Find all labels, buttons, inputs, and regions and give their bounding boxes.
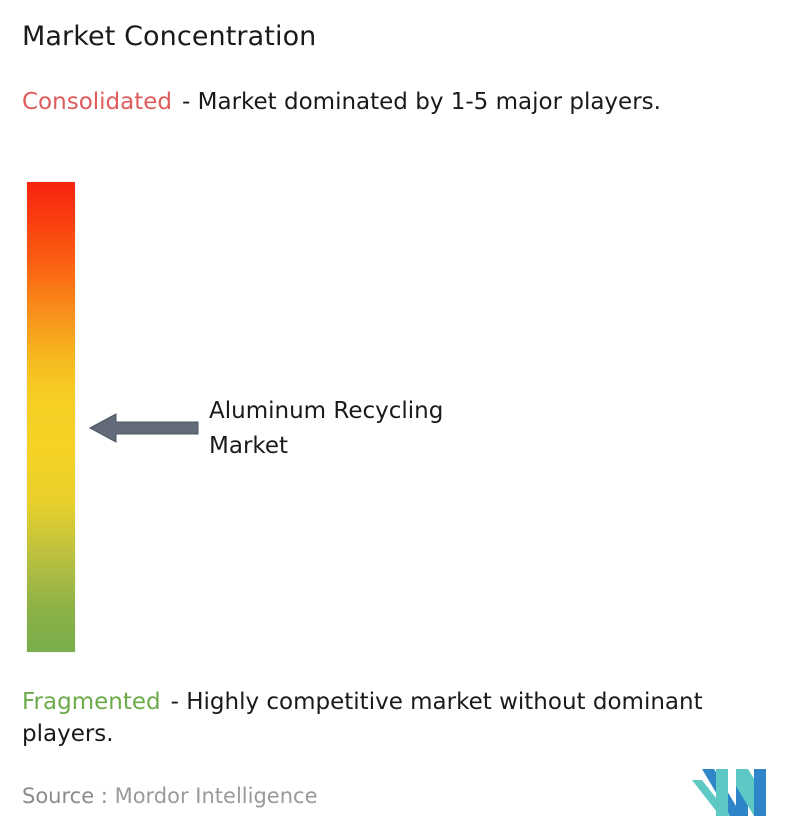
market-concentration-gradient-bar [27,182,75,652]
market-concentration-figure: Market Concentration Consolidated- Marke… [0,0,796,834]
legend-term-consolidated: Consolidated [22,89,172,115]
source-value: Mordor Intelligence [115,784,318,808]
source-label: Source : [22,784,108,808]
source-attribution: Source : Mordor Intelligence [22,782,317,810]
legend-consolidated: Consolidated- Market dominated by 1-5 ma… [22,86,767,118]
marker-label-line2: Market [209,429,539,464]
pointer-arrow-icon [89,411,199,445]
legend-term-fragmented: Fragmented [22,689,161,715]
legend-fragmented: Fragmented- Highly competitive market wi… [22,686,784,750]
page-title: Market Concentration [22,20,316,54]
marker-label-line1: Aluminum Recycling [209,394,539,429]
legend-description-consolidated: - Market dominated by 1-5 major players. [182,89,661,115]
marker-label: Aluminum Recycling Market [209,394,539,464]
mordor-intelligence-logo-icon [692,766,766,816]
